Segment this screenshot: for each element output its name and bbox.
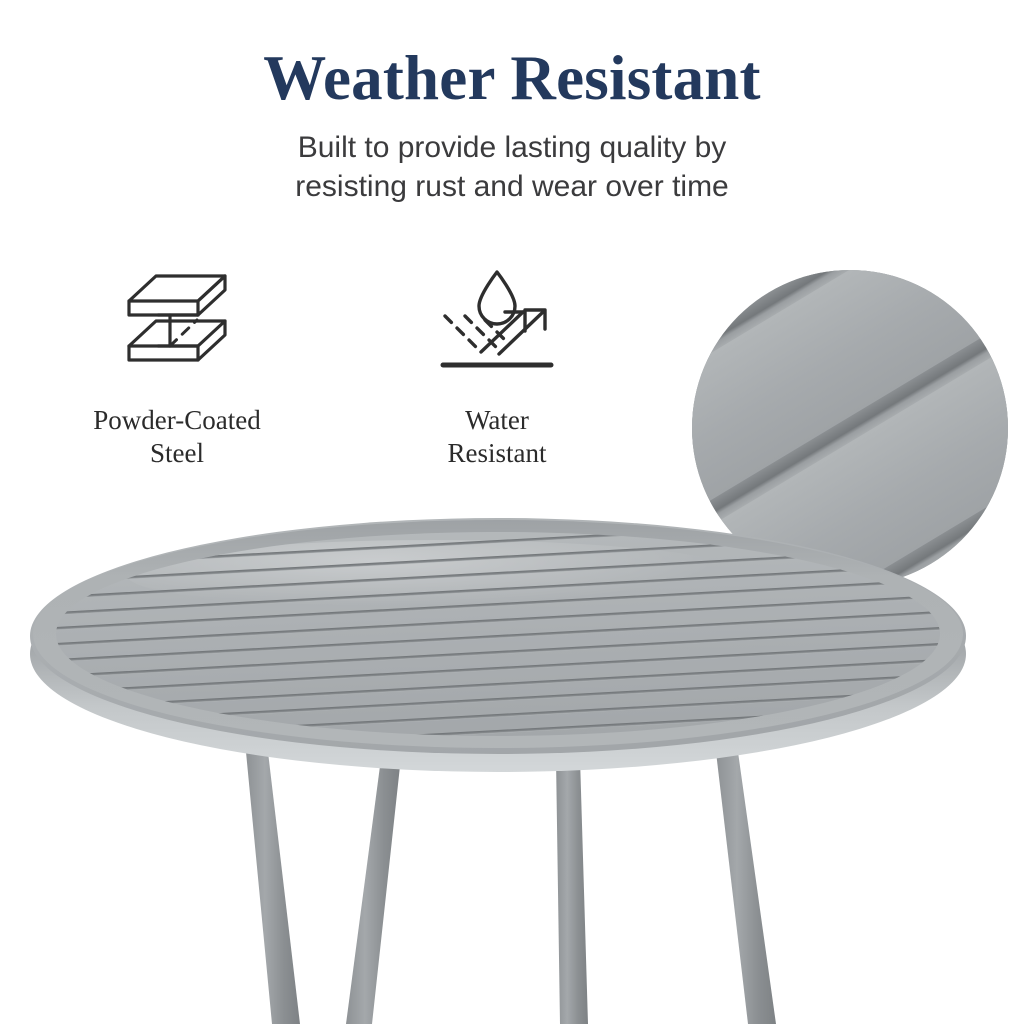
headline-block: Weather Resistant Built to provide lasti…: [0, 44, 1024, 206]
feature-label: Water Resistant: [352, 404, 642, 470]
table-top-slat-surface: [56, 532, 940, 736]
table-leg: [346, 766, 400, 1024]
product-table: [0, 500, 1024, 1024]
feature-water-resistant: Water Resistant: [352, 252, 642, 470]
feature-label: Powder-Coated Steel: [32, 404, 322, 470]
steel-i-beam-icon: [32, 252, 322, 387]
page-title: Weather Resistant: [0, 44, 1024, 112]
table-leg: [246, 752, 300, 1024]
product-feature-image: Weather Resistant Built to provide lasti…: [0, 0, 1024, 1024]
feature-powder-coated-steel: Powder-Coated Steel: [32, 252, 322, 470]
water-droplet-repel-icon: [352, 252, 642, 387]
feature-label-line-2: Resistant: [448, 438, 547, 468]
feature-label-line-1: Powder-Coated: [93, 405, 260, 435]
subtitle-line-2: resisting rust and wear over time: [295, 170, 729, 203]
page-subtitle: Built to provide lasting quality by resi…: [0, 128, 1024, 206]
leg-group: [246, 752, 776, 1024]
subtitle-line-1: Built to provide lasting quality by: [298, 131, 727, 164]
feature-label-line-2: Steel: [150, 438, 204, 468]
feature-list: Powder-Coated Steel: [0, 252, 672, 482]
table-leg: [716, 752, 776, 1024]
table-leg: [556, 758, 588, 1024]
feature-label-line-1: Water: [465, 405, 529, 435]
